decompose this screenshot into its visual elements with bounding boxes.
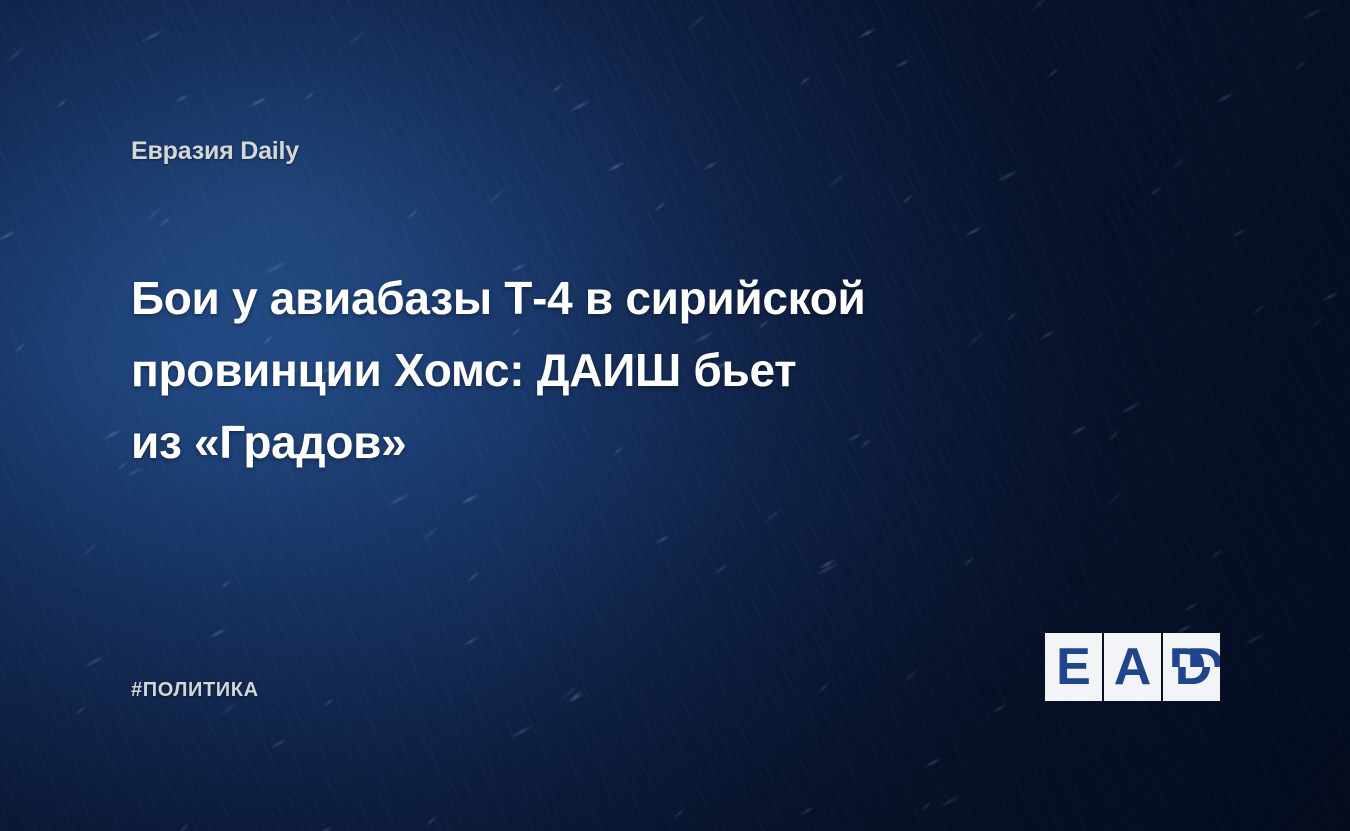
logo-letter-e: E <box>1045 633 1102 701</box>
logo-tile-e: E <box>1045 633 1102 701</box>
logo-letter-d-lower: D <box>1165 667 1220 701</box>
page-title: Бои у авиабазы Т-4 в сирийской провинции… <box>131 262 1031 479</box>
headline-line-3: из «Градов» <box>131 406 1031 478</box>
logo-letter-d-upper: D <box>1177 633 1220 667</box>
logo-tile-d: D D <box>1163 633 1220 701</box>
logo-letter-d-top-half: D <box>1163 633 1220 667</box>
news-share-card: Евразия Daily Бои у авиабазы Т-4 в сирий… <box>0 0 1350 831</box>
category-hashtag[interactable]: #ПОЛИТИКА <box>131 679 259 702</box>
logo-letter-a: A <box>1104 633 1161 701</box>
headline-line-2: провинции Хомс: ДАИШ бьет <box>131 334 1031 406</box>
logo-tile-a: A <box>1104 633 1161 701</box>
publisher-name: Евразия Daily <box>131 137 299 166</box>
headline-line-1: Бои у авиабазы Т-4 в сирийской <box>131 262 1031 334</box>
eadaily-logo: E A D D <box>1045 633 1220 701</box>
logo-letter-d-bottom-half: D <box>1163 667 1220 701</box>
